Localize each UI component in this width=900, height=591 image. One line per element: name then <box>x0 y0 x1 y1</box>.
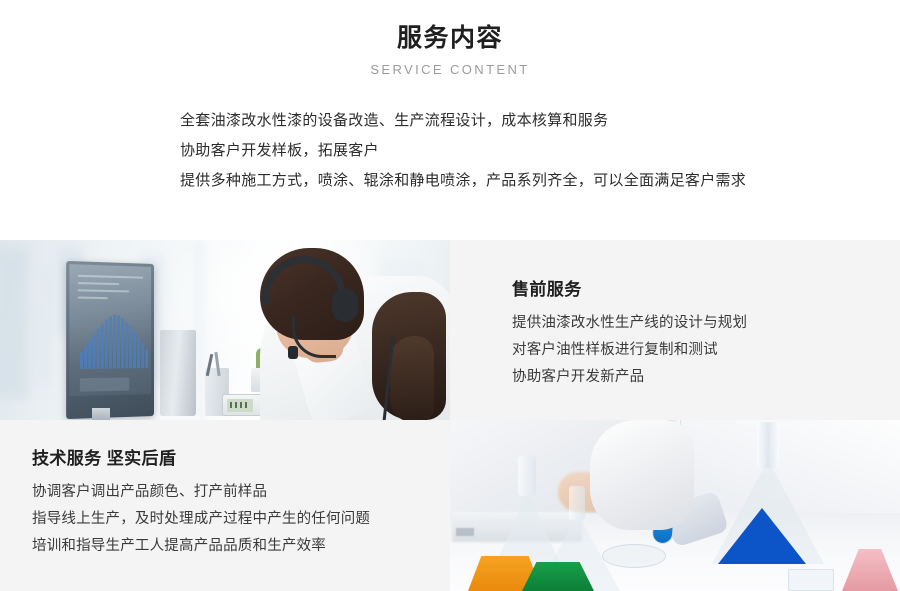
screen-footer-block <box>80 377 129 391</box>
intro-line: 全套油漆改水性漆的设备改造、生产流程设计，成本核算和服务 <box>180 106 900 136</box>
presale-line: 提供油漆改水性生产线的设计与规划 <box>512 310 880 337</box>
laboratory-photo <box>450 420 900 591</box>
call-center-agent-photo <box>0 240 450 420</box>
technical-service-panel: 技术服务 坚实后盾 协调客户调出产品颜色、打产前样品 指导线上生产，及时处理成产… <box>0 420 450 591</box>
monitor-screen <box>69 264 151 396</box>
page-header: 服务内容 SERVICE CONTENT <box>0 0 900 79</box>
clock-display <box>227 399 253 412</box>
screen-text-rows <box>78 275 143 305</box>
service-content-page: 服务内容 SERVICE CONTENT 全套油漆改水性漆的设备改造、生产流程设… <box>0 0 900 591</box>
screen-bar-chart <box>80 314 148 369</box>
flask-green-neck <box>569 486 585 520</box>
monitor-stand <box>92 408 110 420</box>
flask-neck <box>757 422 779 468</box>
presale-service-panel: 售前服务 提供油漆改水性生产线的设计与规划 对客户油性样板进行复制和测试 协助客… <box>450 240 900 420</box>
technical-line: 协调客户调出产品颜色、打产前样品 <box>32 479 430 506</box>
technical-line: 培训和指导生产工人提高产品品质和生产效率 <box>32 533 430 560</box>
beaker <box>788 569 834 591</box>
content-grid: 售前服务 提供油漆改水性生产线的设计与规划 对客户油性样板进行复制和测试 协助客… <box>0 240 900 591</box>
clipboard-clip <box>456 528 474 536</box>
presale-line: 对客户油性样板进行复制和测试 <box>512 337 880 364</box>
presale-heading: 售前服务 <box>512 277 880 303</box>
presale-line: 协助客户开发新产品 <box>512 364 880 391</box>
intro-line: 协助客户开发样板，拓展客户 <box>180 136 900 166</box>
technical-line: 指导线上生产，及时处理成产过程中产生的任何问题 <box>32 506 430 533</box>
flask-orange-neck <box>518 456 536 496</box>
flask-blue-liquid <box>718 508 806 564</box>
intro-line: 提供多种施工方式，喷涂、辊涂和静电喷涂，产品系列齐全，可以全面满足客户需求 <box>180 166 900 196</box>
page-title: 服务内容 <box>0 22 900 54</box>
computer-monitor-icon <box>66 261 154 419</box>
microphone-icon <box>288 346 298 359</box>
page-subtitle: SERVICE CONTENT <box>0 61 900 79</box>
desk-cup <box>160 330 196 416</box>
technical-heading: 技术服务 坚实后盾 <box>32 446 430 472</box>
agent-ponytail <box>390 336 434 420</box>
intro-paragraph: 全套油漆改水性漆的设备改造、生产流程设计，成本核算和服务 协助客户开发样板，拓展… <box>0 106 900 196</box>
